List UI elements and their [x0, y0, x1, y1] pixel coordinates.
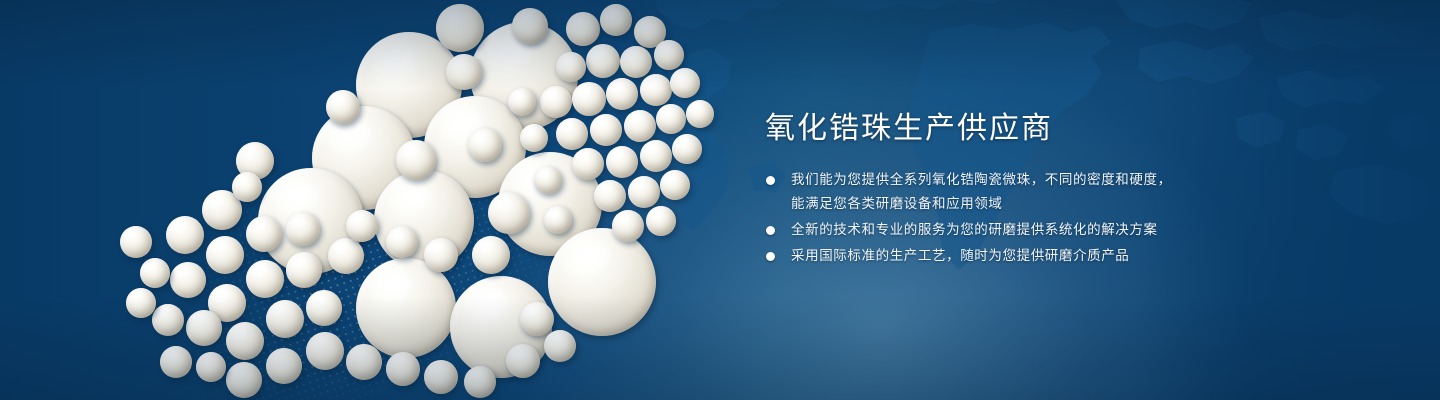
list-item-line1: 我们能为您提供全系列氧化锆陶瓷微珠，不同的密度和硬度，: [791, 172, 1172, 188]
list-item: 全新的技术和专业的服务为您的研磨提供系统化的解决方案: [765, 218, 1235, 242]
list-item-line2: 能满足您各类研磨设备和应用领域: [791, 192, 1235, 216]
page-title: 氧化锆珠生产供应商: [765, 110, 1053, 148]
feature-list: 我们能为您提供全系列氧化锆陶瓷微珠，不同的密度和硬度， 能满足您各类研磨设备和应…: [765, 168, 1235, 270]
bullet-dot-icon: [766, 226, 775, 235]
bullet-dot-icon: [766, 252, 775, 261]
bullet-dot-icon: [766, 176, 775, 185]
banner-content: 氧化锆珠生产供应商 我们能为您提供全系列氧化锆陶瓷微珠，不同的密度和硬度， 能满…: [765, 0, 1365, 400]
list-item: 我们能为您提供全系列氧化锆陶瓷微珠，不同的密度和硬度， 能满足您各类研磨设备和应…: [765, 168, 1235, 216]
hero-banner: 氧化锆珠生产供应商 我们能为您提供全系列氧化锆陶瓷微珠，不同的密度和硬度， 能满…: [0, 0, 1440, 400]
list-item: 采用国际标准的生产工艺，随时为您提供研磨介质产品: [765, 244, 1235, 268]
list-item-line1: 采用国际标准的生产工艺，随时为您提供研磨介质产品: [791, 248, 1129, 264]
list-item-line1: 全新的技术和专业的服务为您的研磨提供系统化的解决方案: [791, 222, 1158, 238]
